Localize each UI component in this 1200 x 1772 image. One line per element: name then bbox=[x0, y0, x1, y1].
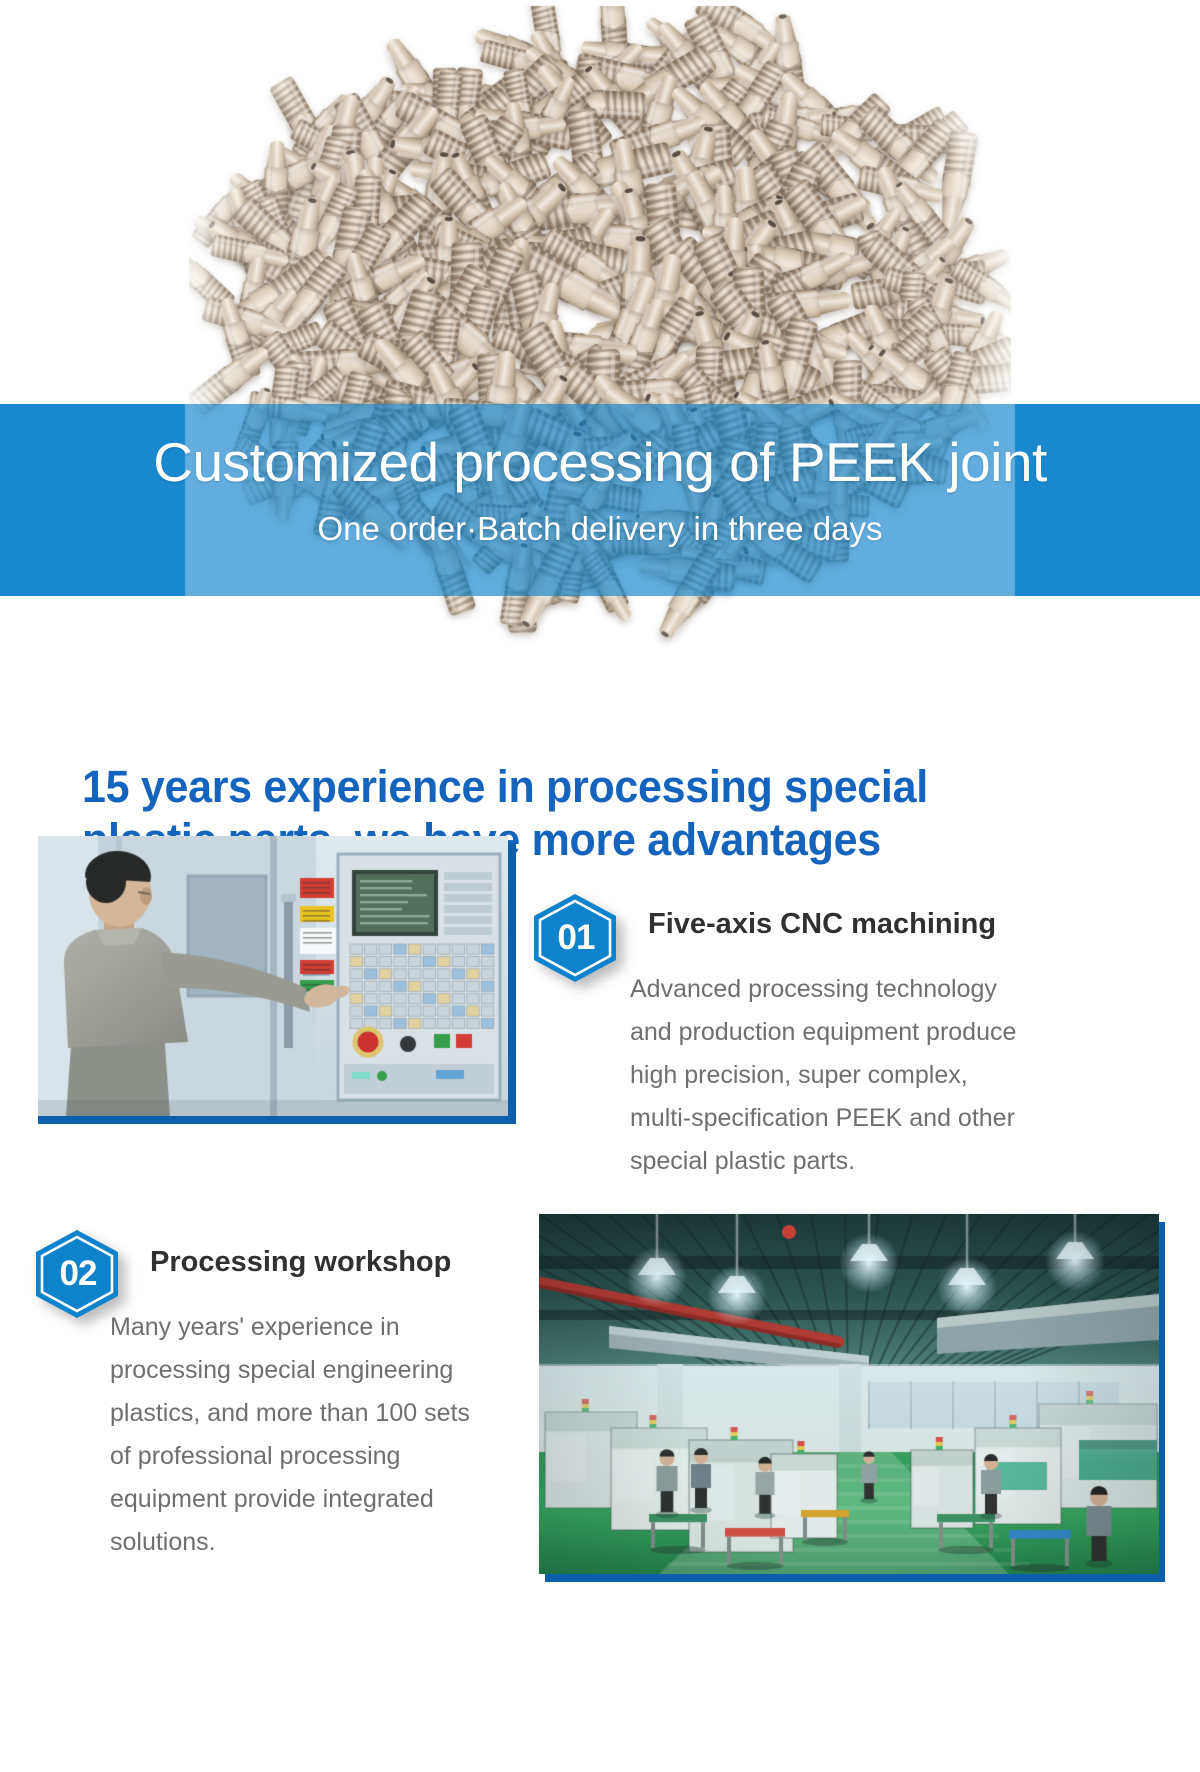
feature-02-body-line: solutions. bbox=[110, 1521, 530, 1564]
feature-02-number: 02 bbox=[34, 1228, 121, 1320]
feature-02-body-line: processing special engineering bbox=[110, 1349, 530, 1392]
hero-banner: Customized processing of PEEK joint One … bbox=[0, 404, 1200, 596]
feature-01-body-line: high precision, super complex, bbox=[630, 1054, 1060, 1097]
banner-subtitle: One order·Batch delivery in three days bbox=[0, 510, 1200, 548]
feature-02-body-line: of professional processing bbox=[110, 1435, 530, 1478]
feature-01-hex-badge: 01 bbox=[532, 892, 618, 984]
feature-01-body-line: multi-specification PEEK and other bbox=[630, 1097, 1060, 1140]
feature-01-body-line: special plastic parts. bbox=[630, 1140, 1060, 1183]
cnc-photo bbox=[38, 836, 508, 1116]
banner-title: Customized processing of PEEK joint bbox=[0, 434, 1200, 492]
feature-02-title: Processing workshop bbox=[150, 1246, 451, 1279]
workshop-photo bbox=[539, 1214, 1159, 1574]
feature-02-hex-badge: 02 bbox=[34, 1228, 120, 1320]
feature-02-body-line: equipment provide integrated bbox=[110, 1478, 530, 1521]
feature-02-body-line: Many years' experience in bbox=[110, 1306, 530, 1349]
headline-line-1: 15 years experience in processing specia… bbox=[82, 761, 928, 812]
feature-01-number: 01 bbox=[532, 892, 619, 984]
feature-02-body-line: plastics, and more than 100 sets bbox=[110, 1392, 530, 1435]
feature-01-body-line: Advanced processing technology bbox=[630, 968, 1060, 1011]
feature-01-title: Five-axis CNC machining bbox=[648, 908, 996, 941]
feature-01-body-line: and production equipment produce bbox=[630, 1011, 1060, 1054]
hero-section: Customized processing of PEEK joint One … bbox=[0, 0, 1200, 680]
feature-02-body: Many years' experience in processing spe… bbox=[110, 1306, 530, 1564]
feature-01-body: Advanced processing technology and produ… bbox=[630, 968, 1060, 1183]
